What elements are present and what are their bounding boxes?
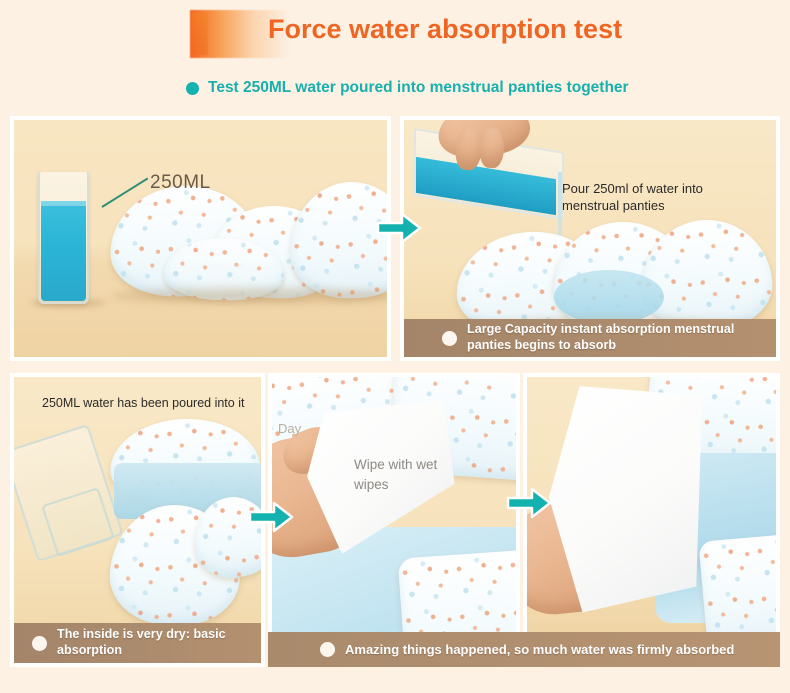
photo-poured: 250ML water has been poured into it The …	[14, 377, 261, 663]
panel-poured: 250ML water has been poured into it The …	[10, 373, 265, 667]
photo-wipe: Day Wipe with wet wipes	[272, 377, 516, 663]
panel-pour: Pour 250ml of water into menstrual panti…	[400, 116, 780, 361]
caption-bar: Large Capacity instant absorption menstr…	[404, 319, 776, 357]
caption-text: The inside is very dry: basic absorption	[57, 627, 232, 658]
wet-area	[554, 270, 664, 324]
panel-result	[523, 373, 780, 637]
caption-text: Amazing things happened, so much water w…	[345, 642, 734, 657]
page-title: Force water absorption test	[268, 14, 622, 45]
photo-result	[527, 377, 776, 633]
caption-bar-wide: Amazing things happened, so much water w…	[268, 632, 780, 667]
panel-overlay-text: 250ML water has been poured into it	[42, 395, 261, 412]
day-watermark: Day	[278, 421, 301, 436]
measuring-glass	[38, 172, 89, 304]
infographic-page: Force water absorption test Test 250ML w…	[0, 0, 790, 693]
blue-liquid	[41, 201, 86, 301]
panel-overlay-text: Wipe with wet wipes	[354, 455, 464, 496]
subtitle-row: Test 250ML water poured into menstrual p…	[186, 79, 629, 97]
photo-beaker: 250ML	[14, 120, 387, 357]
product-fabric	[698, 532, 776, 633]
caption-bullet-icon	[320, 642, 335, 657]
caption-text: Large Capacity instant absorption menstr…	[467, 322, 757, 353]
arrow-right-icon-3	[506, 486, 552, 520]
caption-bullet-icon	[442, 331, 457, 346]
arrow-right-icon-1	[376, 211, 422, 245]
label-250ml: 250ML	[150, 172, 211, 194]
panel-overlay-text: Pour 250ml of water into menstrual panti…	[562, 180, 737, 214]
page-subtitle: Test 250ML water poured into menstrual p…	[208, 79, 629, 97]
header: Force water absorption test Test 250ML w…	[0, 0, 790, 110]
panel-beaker: 250ML	[10, 116, 391, 361]
bullet-dot-icon	[186, 82, 199, 95]
caption-bullet-icon	[32, 636, 47, 651]
photo-pour: Pour 250ml of water into menstrual panti…	[404, 120, 776, 357]
panel-wipe: Day Wipe with wet wipes	[268, 373, 520, 667]
arrow-right-icon-2	[248, 500, 294, 534]
caption-bar: The inside is very dry: basic absorption	[14, 623, 261, 663]
